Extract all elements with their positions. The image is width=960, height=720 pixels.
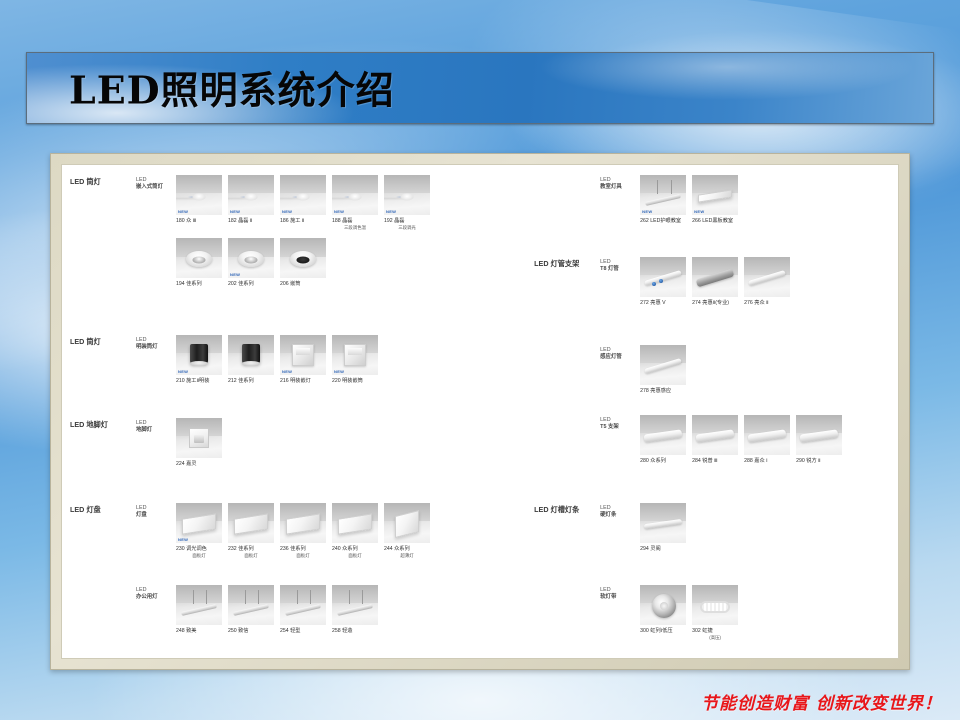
subgroup-en: LED: [600, 259, 611, 265]
product-thumbnail[interactable]: NEW: [176, 335, 222, 375]
product-thumbnail[interactable]: [744, 257, 790, 297]
section-subgroup-label: LED明装筒灯: [136, 335, 176, 352]
product-label: 192 晶磊三段调光: [384, 218, 430, 230]
product-page-number: 278: [640, 388, 649, 394]
product-label: 284 锐普 Ⅲ: [692, 458, 738, 465]
subgroup-en: LED: [136, 587, 147, 593]
product-thumbnail[interactable]: [640, 503, 686, 543]
product-page-number: 212: [228, 378, 237, 384]
section-group-label: LED 地脚灯: [70, 418, 136, 429]
product-page-number: 230: [176, 546, 185, 552]
section-group-label: LED 灯槽灯条: [534, 503, 600, 514]
section-rows: 300 虹列Ⅰ低压302 虹捷(高压): [640, 585, 894, 640]
subgroup-cn: 办公用灯: [136, 594, 158, 600]
product-item[interactable]: 276 亮众 Ⅱ: [744, 257, 790, 307]
product-row: 224 嘉灵: [176, 418, 526, 468]
product-page-number: 254: [280, 628, 289, 634]
product-name: 晶磊: [342, 218, 352, 224]
product-name: 灵阁: [650, 546, 660, 552]
product-label: 210 施工Ⅱ明装: [176, 378, 222, 385]
catalog-section: LEDT5 支架280 众系列284 锐普 Ⅲ288 嘉众 Ⅰ290 锐方 Ⅱ: [534, 415, 894, 465]
product-item[interactable]: NEW210 施工Ⅱ明装: [176, 335, 222, 385]
subgroup-en: LED: [600, 505, 611, 511]
product-row: 272 亮惠 V274 亮惠Ⅱ(专业)276 亮众 Ⅱ: [640, 257, 894, 307]
product-thumbnail[interactable]: [796, 415, 842, 455]
product-name: 明装嵌筒: [342, 378, 363, 384]
suspension-wire: [671, 180, 672, 194]
product-name: 致信: [238, 628, 248, 634]
product-thumbnail[interactable]: [640, 585, 686, 625]
section-group-label: LED 筒灯: [70, 335, 136, 346]
product-label: 258 轻造: [332, 628, 378, 635]
product-page-number: 288: [744, 458, 753, 464]
suspension-wire: [349, 590, 350, 604]
product-page-number: 216: [280, 378, 289, 384]
product-page-number: 258: [332, 628, 341, 634]
section-subgroup-label: LED教室灯具: [600, 175, 640, 192]
suspension-wire: [310, 590, 311, 604]
section-subgroup-label: LED感应灯管: [600, 345, 640, 362]
product-thumbnail[interactable]: NEW: [280, 175, 326, 215]
product-item[interactable]: NEW230 调光调色面板灯: [176, 503, 222, 558]
product-name: 众系列: [394, 546, 410, 552]
product-label: 224 嘉灵: [176, 461, 222, 468]
product-item[interactable]: NEW186 施工 Ⅱ: [280, 175, 326, 230]
downlight-art: [280, 238, 326, 278]
product-subtitle: 三段调色温: [332, 225, 378, 231]
product-item[interactable]: 278 亮惠感应: [640, 345, 686, 395]
linear-pendant-art: [285, 604, 321, 616]
subgroup-cn: 地脚灯: [136, 427, 152, 433]
subgroup-cn: T5 支架: [600, 424, 619, 430]
new-badge: NEW: [282, 210, 292, 214]
product-name: 亮惠Ⅱ(专业): [702, 300, 729, 306]
product-item[interactable]: 232 佳系列面板灯: [228, 503, 274, 558]
product-page-number: 180: [176, 218, 185, 224]
product-page-number: 274: [692, 300, 701, 306]
product-thumbnail[interactable]: [280, 238, 326, 278]
product-subtitle: 超薄灯: [384, 553, 430, 559]
section-subgroup-label: LEDT8 灯管: [600, 257, 640, 274]
product-name: 虹列Ⅰ低压: [650, 628, 672, 634]
slide-canvas: LED照明系统介绍 LED 筒灯LED嵌入式筒灯NEW180 众 ⅢNEW182…: [0, 0, 960, 720]
catalog-section: LED 筒灯LED明装筒灯NEW210 施工Ⅱ明装212 佳系列NEW216 明…: [70, 335, 526, 385]
new-badge: NEW: [334, 210, 344, 214]
product-name: 明装嵌灯: [290, 378, 311, 384]
product-name: 嘉灵: [186, 461, 196, 467]
new-badge: NEW: [230, 273, 240, 277]
product-name: 亮惠 V: [650, 300, 665, 306]
catalog-board-frame: LED 筒灯LED嵌入式筒灯NEW180 众 ⅢNEW182 晶磊 ⅡNEW18…: [50, 153, 910, 670]
product-label: 276 亮众 Ⅱ: [744, 300, 790, 307]
product-label: 254 轻型: [280, 628, 326, 635]
product-item[interactable]: 300 虹列Ⅰ低压: [640, 585, 686, 640]
product-thumbnail[interactable]: [640, 415, 686, 455]
product-label: 300 虹列Ⅰ低压: [640, 628, 686, 635]
product-item[interactable]: 274 亮惠Ⅱ(专业): [692, 257, 738, 307]
section-group-label: LED 灯盘: [70, 503, 136, 514]
product-label: 194 佳系列: [176, 281, 222, 288]
product-item[interactable]: 290 锐方 Ⅱ: [796, 415, 842, 465]
new-badge: NEW: [178, 370, 188, 374]
section-rows: 272 亮惠 V274 亮惠Ⅱ(专业)276 亮众 Ⅱ: [640, 257, 894, 307]
product-thumbnail[interactable]: NEW: [228, 175, 274, 215]
section-rows: NEW262 LED护眼教室NEW266 LED黑板教室: [640, 175, 894, 225]
product-subtitle: (高压): [692, 635, 738, 641]
flex-strip-art: [700, 601, 730, 613]
product-item[interactable]: 236 佳系列面板灯: [280, 503, 326, 558]
suspension-wire: [297, 590, 298, 604]
catalog-section: LED 地脚灯LED地脚灯224 嘉灵: [70, 418, 526, 468]
foot-light-art: [189, 428, 209, 448]
subgroup-en: LED: [600, 177, 611, 183]
linear-pendant-art: [181, 604, 217, 616]
product-label: 202 佳系列: [228, 281, 274, 288]
product-thumbnail[interactable]: NEW: [640, 175, 686, 215]
product-name: 众系列: [342, 546, 358, 552]
product-label: 186 施工 Ⅱ: [280, 218, 326, 225]
product-name: 施工 Ⅱ: [290, 218, 304, 224]
catalog-board: LED 筒灯LED嵌入式筒灯NEW180 众 ⅢNEW182 晶磊 ⅡNEW18…: [61, 164, 899, 659]
product-row: NEW262 LED护眼教室NEW266 LED黑板教室: [640, 175, 894, 225]
product-item[interactable]: NEW182 晶磊 Ⅱ: [228, 175, 274, 230]
section-rows: 248 致美250 致信254 轻型258 轻造: [176, 585, 526, 635]
product-page-number: 244: [384, 546, 393, 552]
product-item[interactable]: 284 锐普 Ⅲ: [692, 415, 738, 465]
catalog-section: LED软灯带300 虹列Ⅰ低压302 虹捷(高压): [534, 585, 894, 640]
product-page-number: 188: [332, 218, 341, 224]
product-thumbnail[interactable]: NEW: [692, 175, 738, 215]
product-label: 302 虹捷(高压): [692, 628, 738, 640]
product-page-number: 210: [176, 378, 185, 384]
product-page-number: 224: [176, 461, 185, 467]
linear-pendant-art: [337, 604, 373, 616]
product-name: 亮惠感应: [650, 388, 671, 394]
product-name: 佳系列: [238, 281, 254, 287]
product-label: 206 嵌筒: [280, 281, 326, 288]
product-row: 300 虹列Ⅰ低压302 虹捷(高压): [640, 585, 894, 640]
product-item[interactable]: NEW216 明装嵌灯: [280, 335, 326, 385]
section-subgroup-label: LED硬灯条: [600, 503, 640, 520]
product-page-number: 182: [228, 218, 237, 224]
product-thumbnail[interactable]: NEW: [332, 175, 378, 215]
product-item[interactable]: 224 嘉灵: [176, 418, 222, 468]
tube-endcap-icon: [659, 279, 663, 283]
subgroup-en: LED: [136, 177, 147, 183]
product-page-number: 302: [692, 628, 701, 634]
product-label: 220 明装嵌筒: [332, 378, 378, 385]
tube-endcap-icon: [652, 282, 656, 286]
product-label: 262 LED护眼教室: [640, 218, 686, 225]
new-badge: NEW: [282, 370, 292, 374]
product-label: 290 锐方 Ⅱ: [796, 458, 842, 465]
product-page-number: 262: [640, 218, 649, 224]
suspension-wire: [193, 590, 194, 604]
product-name: 嘉众 Ⅰ: [754, 458, 767, 464]
product-name: 虹捷: [702, 628, 712, 634]
product-name: 致美: [186, 628, 196, 634]
title-banner: LED照明系统介绍: [26, 52, 934, 124]
product-item[interactable]: 250 致信: [228, 585, 274, 635]
product-thumbnail[interactable]: [228, 503, 274, 543]
section-group-label: LED 筒灯: [70, 175, 136, 186]
product-page-number: 276: [744, 300, 753, 306]
product-item[interactable]: 280 众系列: [640, 415, 686, 465]
product-thumbnail[interactable]: [228, 335, 274, 375]
subgroup-en: LED: [136, 337, 147, 343]
product-page-number: 192: [384, 218, 393, 224]
product-page-number: 272: [640, 300, 649, 306]
product-label: 180 众 Ⅲ: [176, 218, 222, 225]
subgroup-cn: 灯盘: [136, 512, 147, 518]
product-page-number: 194: [176, 281, 185, 287]
linear-pendant-art: [233, 604, 269, 616]
catalog-section: LED 筒灯LED嵌入式筒灯NEW180 众 ⅢNEW182 晶磊 ⅡNEW18…: [70, 175, 526, 288]
product-name: 亮众 Ⅱ: [754, 300, 768, 306]
product-label: 244 众系列超薄灯: [384, 546, 430, 558]
cylinder-downlight-art: [190, 344, 208, 364]
product-page-number: 202: [228, 281, 237, 287]
new-badge: NEW: [178, 538, 188, 542]
product-name: 众系列: [650, 458, 666, 464]
product-label: 236 佳系列面板灯: [280, 546, 326, 558]
product-name: 轻型: [290, 628, 300, 634]
product-item[interactable]: NEW262 LED护眼教室: [640, 175, 686, 225]
panel-light-art: [395, 510, 419, 538]
product-name: 佳系列: [186, 281, 202, 287]
new-badge: NEW: [334, 370, 344, 374]
product-item[interactable]: NEW202 佳系列: [228, 238, 274, 288]
product-label: 294 灵阁: [640, 546, 686, 553]
suspension-wire: [362, 590, 363, 604]
product-thumbnail[interactable]: [228, 585, 274, 625]
section-rows: 294 灵阁: [640, 503, 894, 553]
catalog-section: LED 灯管支架LEDT8 灯管272 亮惠 V274 亮惠Ⅱ(专业)276 亮…: [534, 257, 894, 307]
product-label: 230 调光调色面板灯: [176, 546, 222, 558]
section-rows: NEW210 施工Ⅱ明装212 佳系列NEW216 明装嵌灯NEW220 明装嵌…: [176, 335, 526, 385]
new-badge: NEW: [386, 210, 396, 214]
ceiling-plane: [280, 585, 326, 603]
ceiling-plane: [332, 585, 378, 603]
product-row: 294 灵阁: [640, 503, 894, 553]
product-thumbnail[interactable]: [280, 585, 326, 625]
product-label: 248 致美: [176, 628, 222, 635]
product-name: 锐普 Ⅲ: [702, 458, 717, 464]
suspension-wire: [258, 590, 259, 604]
section-subgroup-label: LED嵌入式筒灯: [136, 175, 176, 192]
product-thumbnail[interactable]: [332, 503, 378, 543]
product-name: 佳系列: [238, 378, 254, 384]
product-label: 188 晶磊三段调色温: [332, 218, 378, 230]
subgroup-cn: 教室灯具: [600, 184, 622, 190]
product-thumbnail[interactable]: [332, 585, 378, 625]
box-fixture-art: [344, 344, 366, 366]
suspension-wire: [206, 590, 207, 604]
subgroup-cn: 软灯带: [600, 594, 616, 600]
product-page-number: 290: [796, 458, 805, 464]
subgroup-cn: 嵌入式筒灯: [136, 184, 163, 190]
product-row: NEW180 众 ⅢNEW182 晶磊 ⅡNEW186 施工 ⅡNEW188 晶…: [176, 175, 526, 230]
product-item[interactable]: 244 众系列超薄灯: [384, 503, 430, 558]
product-subtitle: 面板灯: [332, 553, 378, 559]
product-label: 288 嘉众 Ⅰ: [744, 458, 790, 465]
subgroup-en: LED: [136, 505, 147, 511]
product-row: 278 亮惠感应: [640, 345, 894, 395]
catalog-section: LED办公用灯248 致美250 致信254 轻型258 轻造: [70, 585, 526, 635]
section-subgroup-label: LED灯盘: [136, 503, 176, 520]
product-name: LED护眼教室: [650, 218, 681, 224]
product-label: 240 众系列面板灯: [332, 546, 378, 558]
section-subgroup-label: LED办公用灯: [136, 585, 176, 602]
section-rows: 280 众系列284 锐普 Ⅲ288 嘉众 Ⅰ290 锐方 Ⅱ: [640, 415, 894, 465]
product-page-number: 240: [332, 546, 341, 552]
product-page-number: 206: [280, 281, 289, 287]
product-page-number: 294: [640, 546, 649, 552]
product-page-number: 300: [640, 628, 649, 634]
product-label: 266 LED黑板教室: [692, 218, 738, 225]
product-name: 轻造: [342, 628, 352, 634]
subgroup-cn: 明装筒灯: [136, 344, 158, 350]
product-page-number: 250: [228, 628, 237, 634]
subgroup-en: LED: [600, 347, 611, 353]
product-row: 194 佳系列NEW202 佳系列206 嵌筒: [176, 238, 526, 288]
product-thumbnail[interactable]: NEW: [176, 503, 222, 543]
product-row: NEW230 调光调色面板灯232 佳系列面板灯236 佳系列面板灯240 众系…: [176, 503, 526, 558]
product-item[interactable]: NEW266 LED黑板教室: [692, 175, 738, 225]
product-thumbnail[interactable]: [384, 503, 430, 543]
product-item[interactable]: 248 致美: [176, 585, 222, 635]
section-rows: NEW230 调光调色面板灯232 佳系列面板灯236 佳系列面板灯240 众系…: [176, 503, 526, 558]
product-subtitle: 面板灯: [176, 553, 222, 559]
cylinder-downlight-art: [242, 344, 260, 364]
product-label: 280 众系列: [640, 458, 686, 465]
catalog-section: LED 灯盘LED灯盘NEW230 调光调色面板灯232 佳系列面板灯236 佳…: [70, 503, 526, 558]
product-thumbnail[interactable]: [176, 238, 222, 278]
subgroup-cn: T8 灯管: [600, 266, 619, 272]
strip-reel-art: [652, 594, 676, 618]
section-subgroup-label: LED地脚灯: [136, 418, 176, 435]
product-item[interactable]: NEW188 晶磊三段调色温: [332, 175, 378, 230]
product-item[interactable]: 212 佳系列: [228, 335, 274, 385]
catalog-column-right: LED教室灯具NEW262 LED护眼教室NEW266 LED黑板教室LED 灯…: [530, 165, 898, 658]
downlight-art: [176, 238, 222, 278]
product-item[interactable]: 288 嘉众 Ⅰ: [744, 415, 790, 465]
product-thumbnail[interactable]: [744, 415, 790, 455]
ceiling-plane: [228, 585, 274, 603]
product-page-number: 284: [692, 458, 701, 464]
product-page-number: 280: [640, 458, 649, 464]
product-item[interactable]: 272 亮惠 V: [640, 257, 686, 307]
product-page-number: 266: [692, 218, 701, 224]
product-page-number: 236: [280, 546, 289, 552]
product-name: 众 Ⅲ: [186, 218, 196, 224]
product-name: LED黑板教室: [702, 218, 733, 224]
product-row: 248 致美250 致信254 轻型258 轻造: [176, 585, 526, 635]
product-item[interactable]: NEW220 明装嵌筒: [332, 335, 378, 385]
product-page-number: 220: [332, 378, 341, 384]
subgroup-en: LED: [136, 420, 147, 426]
product-thumbnail[interactable]: [692, 415, 738, 455]
ceiling-plane: [176, 585, 222, 603]
product-subtitle: 面板灯: [228, 553, 274, 559]
product-item[interactable]: 240 众系列面板灯: [332, 503, 378, 558]
product-item[interactable]: 258 轻造: [332, 585, 378, 635]
product-thumbnail[interactable]: [176, 418, 222, 458]
product-thumbnail[interactable]: [640, 257, 686, 297]
section-subgroup-label: LEDT5 支架: [600, 415, 640, 432]
product-subtitle: 面板灯: [280, 553, 326, 559]
new-badge: NEW: [694, 210, 704, 214]
new-badge: NEW: [642, 210, 652, 214]
product-item[interactable]: 194 佳系列: [176, 238, 222, 288]
product-thumbnail[interactable]: NEW: [384, 175, 430, 215]
product-item[interactable]: 206 嵌筒: [280, 238, 326, 288]
product-thumbnail[interactable]: [640, 345, 686, 385]
product-thumbnail[interactable]: [280, 503, 326, 543]
product-name: 施工Ⅱ明装: [186, 378, 209, 384]
box-fixture-art: [292, 344, 314, 366]
page-title: LED照明系统介绍: [69, 59, 395, 114]
product-name: 锐方 Ⅱ: [806, 458, 820, 464]
section-rows: 278 亮惠感应: [640, 345, 894, 395]
product-thumbnail[interactable]: NEW: [332, 335, 378, 375]
section-rows: 224 嘉灵: [176, 418, 526, 468]
product-label: 250 致信: [228, 628, 274, 635]
section-subgroup-label: LED软灯带: [600, 585, 640, 602]
product-thumbnail[interactable]: [692, 257, 738, 297]
product-item[interactable]: NEW192 晶磊三段调光: [384, 175, 430, 230]
product-thumbnail[interactable]: [692, 585, 738, 625]
subgroup-en: LED: [600, 587, 611, 593]
product-name: 佳系列: [290, 546, 306, 552]
section-rows: NEW180 众 ⅢNEW182 晶磊 ⅡNEW186 施工 ⅡNEW188 晶…: [176, 175, 526, 288]
product-name: 调光调色: [186, 546, 207, 552]
subgroup-cn: 硬灯条: [600, 512, 616, 518]
catalog-section: LED教室灯具NEW262 LED护眼教室NEW266 LED黑板教室: [534, 175, 894, 225]
product-thumbnail[interactable]: NEW: [280, 335, 326, 375]
footer-slogan: 节能创造财富 创新改变世界！: [701, 689, 942, 714]
product-label: 232 佳系列面板灯: [228, 546, 274, 558]
product-name: 佳系列: [238, 546, 254, 552]
product-thumbnail[interactable]: NEW: [228, 238, 274, 278]
product-item[interactable]: NEW180 众 Ⅲ: [176, 175, 222, 230]
product-row: NEW210 施工Ⅱ明装212 佳系列NEW216 明装嵌灯NEW220 明装嵌…: [176, 335, 526, 385]
catalog-section: LED 灯槽灯条LED硬灯条294 灵阁: [534, 503, 894, 553]
product-label: 216 明装嵌灯: [280, 378, 326, 385]
product-item[interactable]: 294 灵阁: [640, 503, 686, 553]
product-item[interactable]: 302 虹捷(高压): [692, 585, 738, 640]
product-thumbnail[interactable]: [176, 585, 222, 625]
suspension-wire: [657, 180, 658, 194]
product-label: 212 佳系列: [228, 378, 274, 385]
product-label: 278 亮惠感应: [640, 388, 686, 395]
new-badge: NEW: [178, 210, 188, 214]
product-label: 272 亮惠 V: [640, 300, 686, 307]
product-name: 嵌筒: [290, 281, 300, 287]
product-name: 晶磊 Ⅱ: [238, 218, 252, 224]
product-thumbnail[interactable]: NEW: [176, 175, 222, 215]
product-page-number: 248: [176, 628, 185, 634]
product-subtitle: 三段调光: [384, 225, 430, 231]
ceiling-plane: [640, 175, 686, 193]
product-item[interactable]: 254 轻型: [280, 585, 326, 635]
section-group-label: LED 灯管支架: [534, 257, 600, 268]
subgroup-cn: 感应灯管: [600, 354, 622, 360]
linear-pendant-art: [645, 194, 681, 206]
product-name: 晶磊: [394, 218, 404, 224]
product-label: 274 亮惠Ⅱ(专业): [692, 300, 738, 307]
product-row: 280 众系列284 锐普 Ⅲ288 嘉众 Ⅰ290 锐方 Ⅱ: [640, 415, 894, 465]
